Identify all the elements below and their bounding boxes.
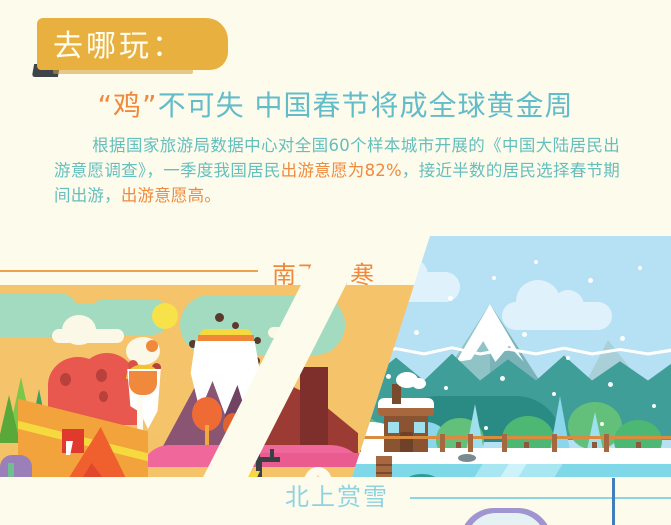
section-tag-ribbon: 去哪玩： xyxy=(33,18,228,75)
snowflake xyxy=(652,404,656,408)
fence-post-3 xyxy=(440,434,445,452)
snowflake xyxy=(444,386,448,390)
cabin-window-left xyxy=(388,422,399,433)
snowflake xyxy=(492,276,496,280)
fence-post-4 xyxy=(468,434,473,452)
slide-prong-3 xyxy=(270,449,274,461)
snowflake xyxy=(566,356,570,360)
fence-rail xyxy=(352,436,671,439)
dock-plank-line-2 xyxy=(376,472,392,474)
snowflake xyxy=(534,260,538,264)
north-section-label: 北上赏雪 xyxy=(285,477,389,512)
snowflake xyxy=(392,264,396,268)
page-title: “鸡”不可失 中国春节将成全球黄金周 xyxy=(0,84,671,124)
white-cloud-puff-left xyxy=(62,315,96,345)
sun-icon xyxy=(152,303,178,329)
red-hill-dot-3 xyxy=(99,391,108,402)
cabin-door xyxy=(400,432,413,452)
infographic-page: 去哪玩： “鸡”不可失 中国春节将成全球黄金周 根据国家旅游局数据中心对全国60… xyxy=(0,0,671,525)
snowflake xyxy=(620,336,625,341)
smoke-dot-1 xyxy=(215,313,224,322)
snowflake xyxy=(588,278,593,283)
north-section-rule xyxy=(410,497,671,499)
red-hill-dot-1 xyxy=(60,373,71,386)
snowflake xyxy=(600,422,604,426)
cold-destination-illustration xyxy=(352,236,671,477)
headline-rest: 不可失 中国春节将成全球黄金周 xyxy=(158,89,574,122)
red-hill-dot-2 xyxy=(96,369,107,382)
snowflake xyxy=(552,392,556,396)
fence-post-7 xyxy=(604,434,609,452)
snowflake xyxy=(414,330,419,335)
backpack-buckle xyxy=(8,463,14,477)
snowflake xyxy=(472,344,476,348)
geyser-steam-dot-1 xyxy=(146,340,158,352)
ribbon-label: 去哪玩： xyxy=(33,18,228,75)
tent-flag-patch xyxy=(62,429,84,453)
smoke-dot-2 xyxy=(232,322,239,329)
smoke-dot-3 xyxy=(254,337,261,344)
dock-plank-line-1 xyxy=(376,464,392,466)
vertical-blue-rule xyxy=(612,478,615,525)
snowflake xyxy=(448,296,453,301)
snowflake xyxy=(484,426,488,430)
headline-quote-close: ” xyxy=(142,89,158,122)
geyser-hot-water xyxy=(129,371,157,395)
winter-cloud-puff-2b xyxy=(552,290,584,322)
cabin-roof-snow xyxy=(378,398,434,408)
chimney-smoke-2 xyxy=(412,378,426,389)
headline-quote-open: “ xyxy=(98,89,114,122)
body-highlight-2: 出游意愿高。 xyxy=(121,186,221,205)
cabin-window-right xyxy=(414,422,425,433)
lake-rock xyxy=(458,454,476,462)
snowflake xyxy=(500,376,505,381)
cabin-chimney xyxy=(392,384,401,404)
fence-post-6 xyxy=(552,434,557,452)
fence-post-5 xyxy=(502,434,507,452)
snowflake xyxy=(638,266,642,270)
snowflake xyxy=(608,382,613,387)
south-section-rule xyxy=(0,270,258,272)
snowflake xyxy=(522,332,527,337)
snowflake xyxy=(386,374,391,379)
headline-highlight: 鸡 xyxy=(113,89,142,122)
body-highlight-1: 出游意愿为82% xyxy=(281,161,402,180)
body-paragraph: 根据国家旅游局数据中心对全国60个样本城市开展的《中国大陆居民出游意愿调查》，一… xyxy=(54,133,620,208)
